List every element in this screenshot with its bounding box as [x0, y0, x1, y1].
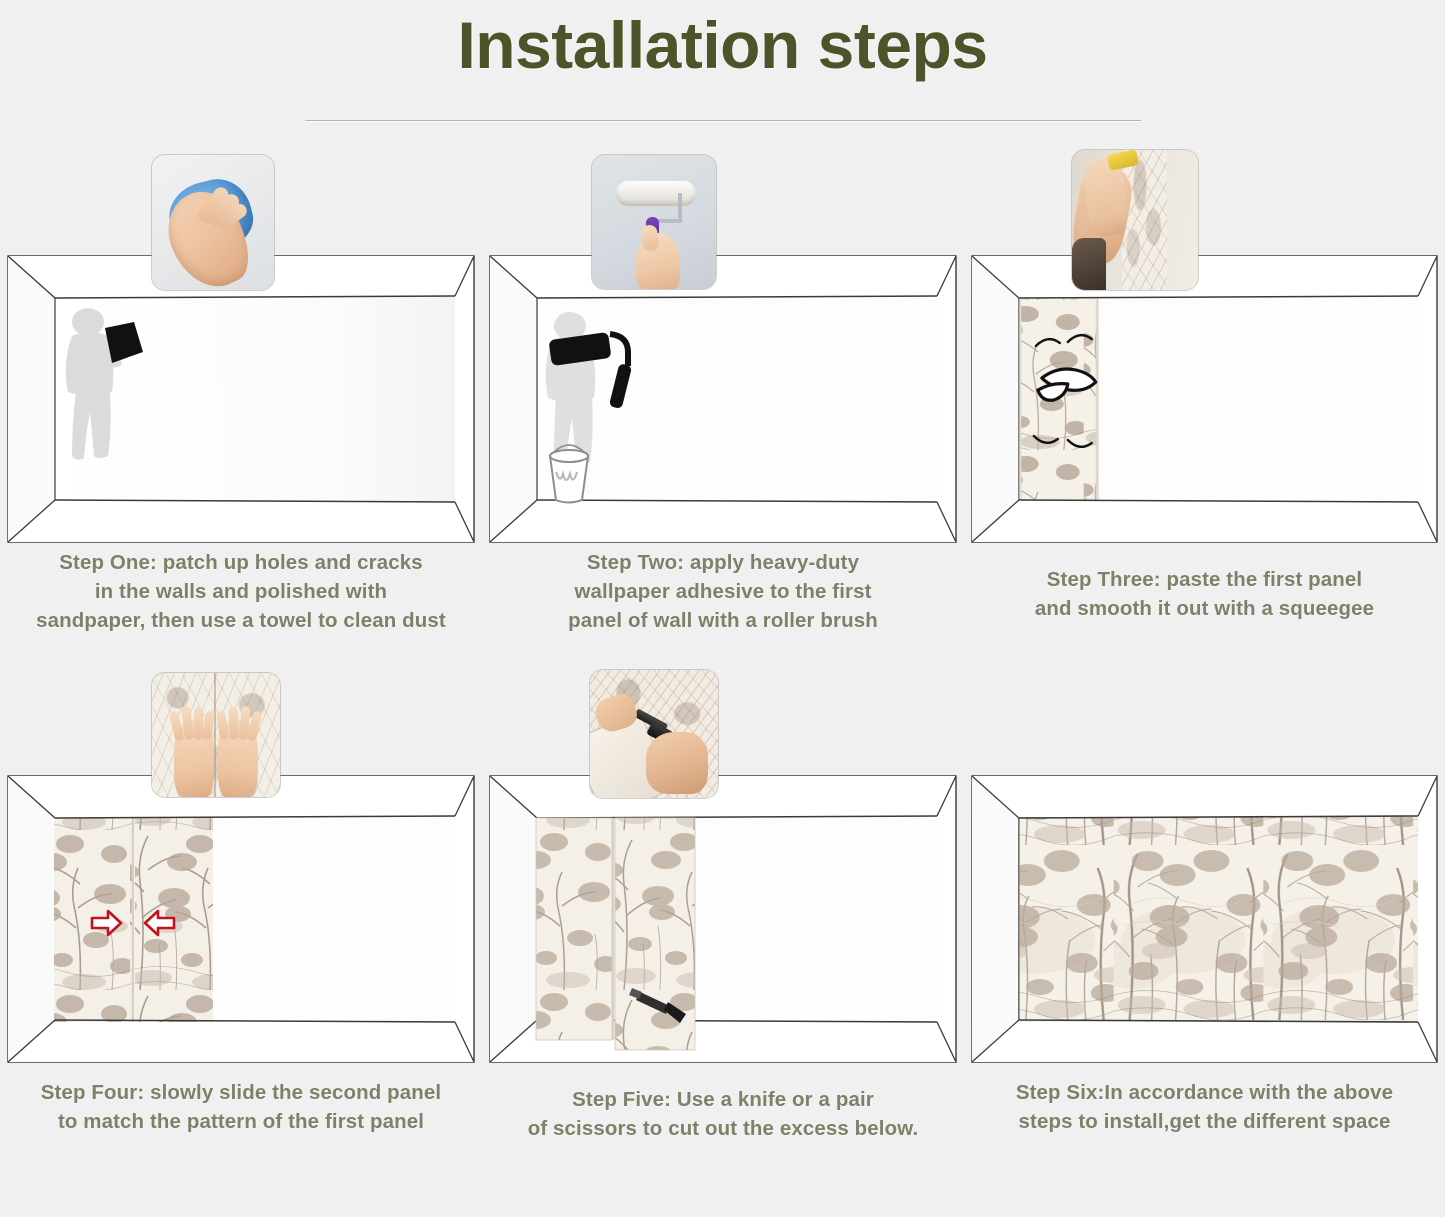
- caption-line: Step Six:In accordance with the above: [972, 1078, 1437, 1107]
- room-diagram-step-five: [482, 670, 964, 1070]
- step-one-figure: [0, 150, 482, 550]
- title-divider: [305, 120, 1141, 123]
- thumb: [641, 224, 660, 252]
- caption-line: Step Three: paste the first panel: [972, 565, 1437, 594]
- step-six-caption: Step Six:In accordance with the above st…: [964, 1078, 1445, 1136]
- inset-wallpaper-background: [152, 673, 280, 797]
- right-hand: [646, 732, 708, 794]
- divider-line: [305, 120, 1141, 122]
- caption-line: Step Four: slowly slide the second panel: [8, 1078, 474, 1107]
- caption-line: Step Five: Use a knife or a pair: [490, 1085, 956, 1114]
- panel-seam: [214, 673, 216, 797]
- room-diagram-step-three: [964, 150, 1445, 550]
- caption-line: sandpaper, then use a towel to clean dus…: [8, 606, 474, 635]
- caption-line: steps to install,get the different space: [972, 1107, 1437, 1136]
- steps-grid: Step One: patch up holes and cracks in t…: [0, 150, 1445, 1190]
- caption-line: to match the pattern of the first panel: [8, 1107, 474, 1136]
- paste-bucket-icon: [550, 445, 588, 503]
- step-two-figure: [482, 150, 964, 550]
- step-four: Step Four: slowly slide the second panel…: [0, 670, 482, 1190]
- step-six-figure: [964, 670, 1445, 1070]
- step-five: Step Five: Use a knife or a pair of scis…: [482, 670, 964, 1190]
- step-three-caption: Step Three: paste the first panel and sm…: [964, 565, 1445, 623]
- step-four-caption: Step Four: slowly slide the second panel…: [0, 1078, 482, 1136]
- step-five-figure: [482, 670, 964, 1070]
- page-title: Installation steps: [0, 8, 1445, 84]
- caption-line: panel of wall with a roller brush: [490, 606, 956, 635]
- inset-photo-step-two: [592, 155, 716, 289]
- room-diagram-step-six: [964, 670, 1445, 1070]
- caption-line: in the walls and polished with: [8, 577, 474, 606]
- step-three: Step Three: paste the first panel and sm…: [964, 150, 1445, 670]
- step-four-figure: [0, 670, 482, 1070]
- caption-line: Step Two: apply heavy-duty: [490, 548, 956, 577]
- inset-photo-step-five: [590, 670, 718, 798]
- step-five-caption: Step Five: Use a knife or a pair of scis…: [482, 1085, 964, 1143]
- step-three-figure: [964, 150, 1445, 550]
- right-finger-2: [228, 707, 238, 740]
- full-wall-mural: [1020, 817, 1418, 1022]
- page-header: Installation steps: [0, 0, 1445, 123]
- inset-photo-step-one: [152, 155, 274, 290]
- step-one: Step One: patch up holes and cracks in t…: [0, 150, 482, 670]
- step-two: Step Two: apply heavy-duty wallpaper adh…: [482, 150, 964, 670]
- caption-line: and smooth it out with a squeegee: [972, 594, 1437, 623]
- room-diagram-step-two: [482, 150, 964, 550]
- step-six: Step Six:In accordance with the above st…: [964, 670, 1445, 1190]
- inset-photo-step-three: [1072, 150, 1198, 290]
- inset-photo-step-four: [152, 673, 280, 797]
- caption-line: of scissors to cut out the excess below.: [490, 1114, 956, 1143]
- step-two-caption: Step Two: apply heavy-duty wallpaper adh…: [482, 548, 964, 635]
- roller-sleeve: [616, 181, 696, 206]
- step-one-caption: Step One: patch up holes and cracks in t…: [0, 548, 482, 635]
- caption-line: wallpaper adhesive to the first: [490, 577, 956, 606]
- caption-line: Step One: patch up holes and cracks: [8, 548, 474, 577]
- wallpaper-strip: [1122, 150, 1167, 290]
- wallpaper-panel-1-overhang: [536, 818, 612, 1040]
- dark-clothing: [1072, 238, 1106, 290]
